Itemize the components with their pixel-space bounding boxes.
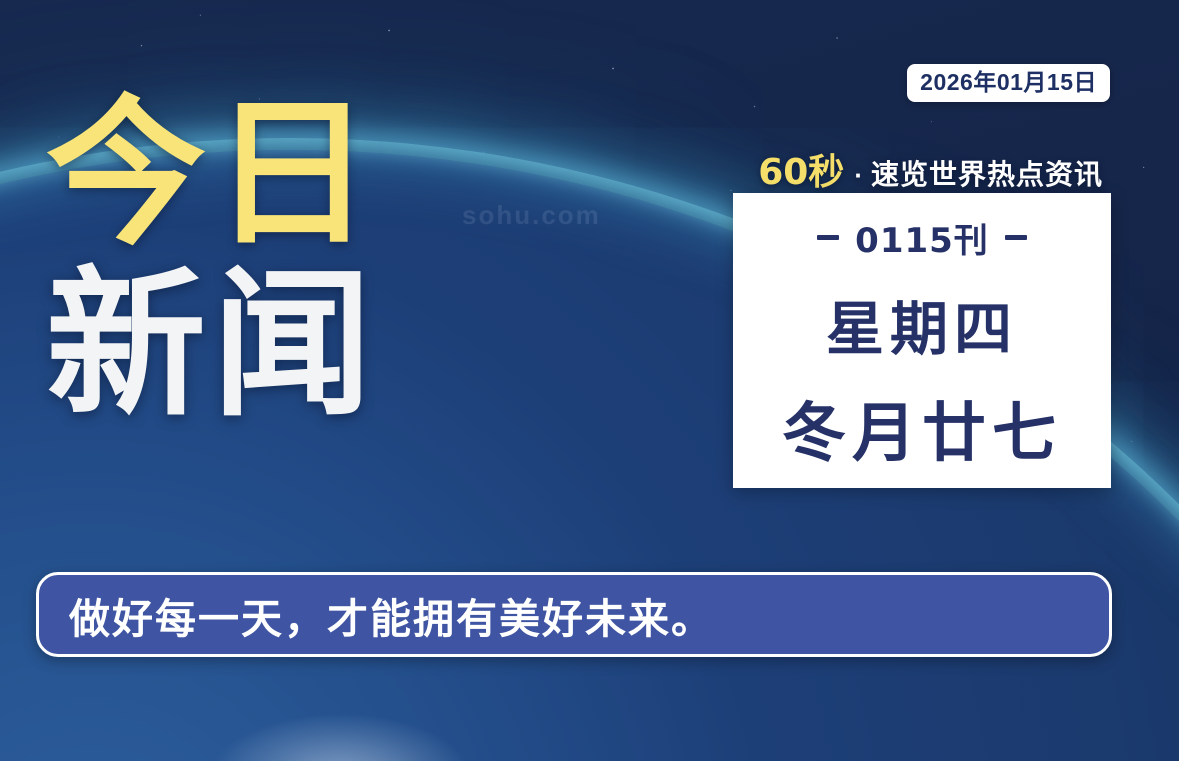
date-badge: 2026年01月15日 — [907, 64, 1110, 102]
lunar-date-label: 冬月廿七 — [782, 382, 1062, 474]
tagline-separator: · — [850, 160, 865, 191]
slogan-text: 做好每一天，才能拥有美好未来。 — [69, 585, 714, 645]
issue-number: 0115刊 — [855, 213, 989, 262]
weekday-label: 星期四 — [826, 282, 1018, 366]
page-title-line-2: 新闻 — [46, 267, 466, 424]
news-poster: sohu.com 今日 新闻 2026年01月15日 60秒 · 速览世界热点资… — [0, 0, 1179, 761]
dash-left-icon — [817, 235, 839, 240]
issue-row: 0115刊 — [817, 213, 1027, 262]
dash-right-icon — [1005, 235, 1027, 240]
watermark-text: sohu.com — [462, 200, 601, 231]
tagline-description: 速览世界热点资讯 — [871, 153, 1103, 193]
issue-card: 0115刊 星期四 冬月廿七 — [733, 193, 1111, 488]
poster-title: 今日 新闻 — [46, 96, 466, 424]
tagline: 60秒 · 速览世界热点资讯 — [758, 143, 1103, 195]
tagline-duration: 60秒 — [758, 143, 844, 195]
page-title-line-1: 今日 — [46, 96, 466, 253]
slogan-banner: 做好每一天，才能拥有美好未来。 — [36, 572, 1112, 657]
